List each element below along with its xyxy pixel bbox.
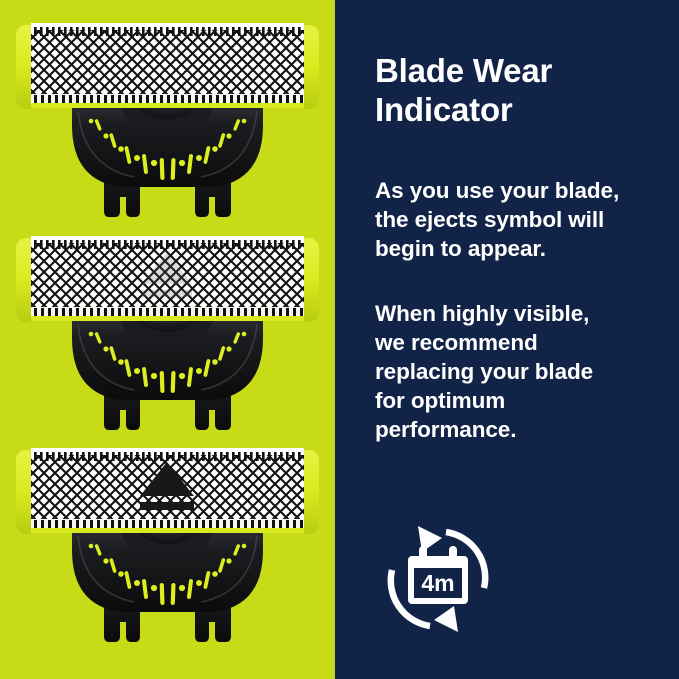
blade-cutting-head — [31, 23, 304, 108]
blade-cutting-head — [31, 448, 304, 533]
blade-stage-3 — [0, 440, 335, 660]
badge-value: 4m — [421, 570, 454, 596]
blade-stages-panel — [0, 0, 335, 679]
replacement-interval-badge: 4m — [378, 518, 498, 640]
body-paragraph-1: As you use your blade, the ejects symbol… — [375, 176, 653, 263]
blade-stage-2 — [0, 228, 335, 448]
page-title: Blade Wear Indicator — [375, 52, 653, 129]
blade-wear-indicator-infographic: Blade Wear Indicator As you use your bla… — [0, 0, 679, 679]
blade-cutting-head — [31, 236, 304, 321]
body-paragraph-2: When highly visible, we recommend replac… — [375, 299, 653, 444]
refresh-arrowhead-bottom — [434, 606, 458, 632]
blade-stage-1 — [0, 15, 335, 235]
